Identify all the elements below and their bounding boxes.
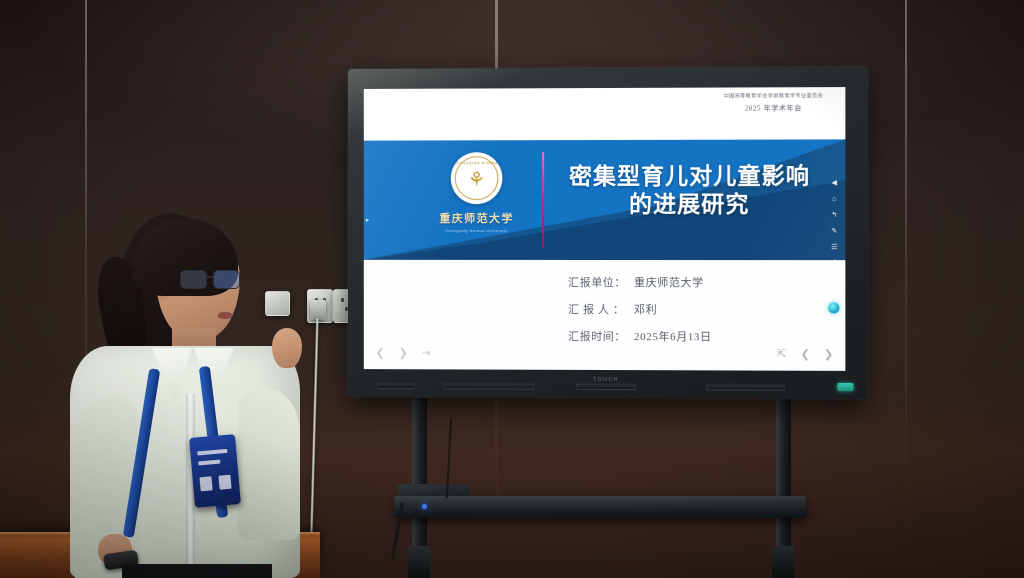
- university-logo: CHONGQING NORMAL ⚘ 重庆师范大学 Chongqing Norm…: [429, 152, 524, 233]
- logo-emblem-circle: CHONGQING NORMAL ⚘: [451, 152, 503, 204]
- plugged-in-adapter: [310, 300, 326, 320]
- mouth: [218, 312, 232, 319]
- skirt: [122, 564, 272, 578]
- slide-nav-left[interactable]: ❮ ❯ ⇥: [376, 346, 431, 359]
- collapse-icon[interactable]: ❮: [831, 260, 837, 267]
- glasses-icon: [180, 270, 248, 290]
- stand-post-left: [412, 398, 427, 548]
- stand-post-right: [776, 398, 791, 548]
- volume-icon[interactable]: ◀: [832, 180, 837, 187]
- conference-badge: [189, 434, 241, 508]
- conference-room: 中国高等教育学会学前教育学专业委员会 2025 年学术年会 CHONGQING …: [0, 0, 1024, 578]
- conference-heading: 中国高等教育学会学前教育学专业委员会 2025 年学术年会: [724, 93, 824, 114]
- meta-row: 汇报时间： 2025年6月13日: [568, 328, 845, 345]
- meta-value: 邓利: [634, 301, 657, 317]
- display-bezel: 中国高等教育学会学前教育学专业委员会 2025 年学术年会 CHONGQING …: [348, 67, 868, 399]
- home-icon[interactable]: ⌂: [832, 196, 836, 203]
- interactive-flat-panel-display[interactable]: 中国高等教育学会学前教育学专业委员会 2025 年学术年会 CHONGQING …: [346, 68, 866, 398]
- university-name-en: Chongqing Normal University: [429, 228, 524, 233]
- arm-right: [238, 390, 300, 540]
- logo-arc-text: CHONGQING NORMAL: [452, 161, 500, 165]
- display-power-led: [837, 383, 853, 391]
- slide-meta-block: 汇报单位： 重庆师范大学 汇 报 人 ： 邓利 汇报时间： 2025年6月13日: [364, 274, 846, 356]
- previous-slide-icon[interactable]: ❮: [376, 346, 385, 359]
- slide-title: 密集型育儿对儿童影响的进展研究: [558, 162, 821, 219]
- expand-left-icon[interactable]: ▸: [366, 216, 369, 224]
- bezel-port: [576, 383, 636, 390]
- osd-toolbar[interactable]: ◀ ⌂ ↰ ✎ ☰ ❮: [827, 180, 841, 268]
- back-icon[interactable]: ↰: [831, 212, 837, 219]
- power-led-indicator: [422, 504, 427, 509]
- meta-label: 汇报时间：: [568, 328, 634, 344]
- meta-row: 汇 报 人 ： 邓利: [568, 301, 845, 318]
- meta-label: 汇 报 人 ：: [568, 301, 634, 317]
- pen-icon[interactable]: ✎: [831, 228, 837, 235]
- meta-label: 汇报单位：: [568, 274, 634, 290]
- meta-value: 2025年6月13日: [634, 328, 712, 344]
- slide-banner: CHONGQING NORMAL ⚘ 重庆师范大学 Chongqing Norm…: [364, 139, 846, 260]
- title-divider: [542, 152, 544, 248]
- bezel-port: [443, 382, 534, 389]
- stand-foot-left: [408, 546, 430, 578]
- display-screen[interactable]: 中国高等教育学会学前教育学专业委员会 2025 年学术年会 CHONGQING …: [364, 87, 846, 371]
- stand-shelf: [394, 496, 806, 518]
- menu-icon[interactable]: ☰: [831, 244, 837, 251]
- mobile-display-stand: [390, 398, 810, 578]
- slide-nav-right[interactable]: ⇱ ❮ ❯: [777, 348, 833, 361]
- meta-row: 汇报单位： 重庆师范大学: [568, 274, 845, 290]
- conference-organization: 中国高等教育学会学前教育学专业委员会: [724, 93, 824, 101]
- share-icon[interactable]: ⇱: [777, 348, 786, 361]
- presentation-slide[interactable]: 中国高等教育学会学前教育学专业委员会 2025 年学术年会 CHONGQING …: [364, 87, 846, 371]
- presenter: [60, 208, 310, 578]
- prev-icon[interactable]: ❮: [800, 348, 809, 361]
- stand-foot-right: [772, 546, 794, 578]
- next-slide-icon[interactable]: ❯: [399, 346, 408, 359]
- slide-header: 中国高等教育学会学前教育学专业委员会 2025 年学术年会: [364, 87, 846, 141]
- bezel-port: [378, 382, 416, 389]
- floating-touch-handle[interactable]: [828, 302, 839, 313]
- logo-flame-icon: ⚘: [468, 170, 486, 190]
- next-icon[interactable]: ❯: [824, 348, 833, 361]
- meta-value: 重庆师范大学: [634, 274, 704, 290]
- bezel-port: [706, 383, 785, 390]
- conference-year: 2025 年学术年会: [724, 104, 824, 114]
- university-name-cn: 重庆师范大学: [429, 210, 524, 226]
- hand-right: [272, 328, 302, 368]
- exit-icon[interactable]: ⇥: [422, 346, 431, 359]
